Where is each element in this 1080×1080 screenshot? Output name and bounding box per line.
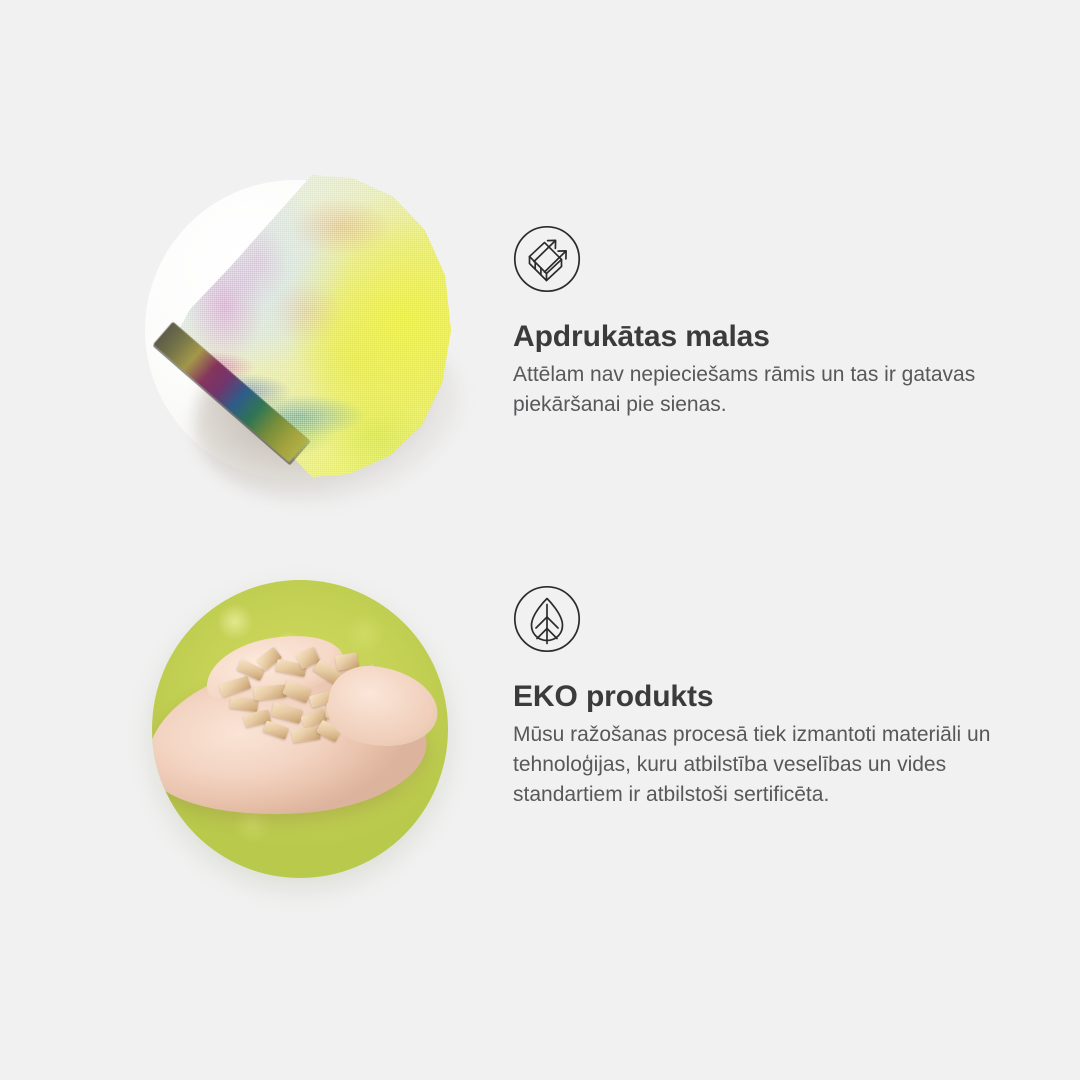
feature-description: Mūsu ražošanas procesā tiek izmantoti ma…	[513, 720, 1008, 809]
feature-title: Apdrukātas malas	[513, 319, 1008, 354]
feature-title: EKO produkts	[513, 679, 1008, 714]
wood-chip	[263, 720, 290, 739]
feature-printed-edges: Apdrukātas malas Attēlam nav nepieciešam…	[513, 225, 1008, 420]
wood-chips-image	[152, 580, 448, 878]
green-bokeh-background	[152, 580, 448, 878]
printed-edges-icon	[513, 225, 581, 293]
feature-description: Attēlam nav nepieciešams rāmis un tas ir…	[513, 360, 1008, 420]
leaf-icon	[513, 585, 581, 653]
wood-chip	[271, 702, 304, 724]
feature-eco-product: EKO produkts Mūsu ražošanas procesā tiek…	[513, 585, 1008, 810]
wood-chip	[219, 676, 252, 698]
canvas-corner-image	[133, 172, 455, 508]
feature-panel: Apdrukātas malas Attēlam nav nepieciešam…	[0, 0, 1080, 1080]
wood-chip	[282, 680, 312, 704]
